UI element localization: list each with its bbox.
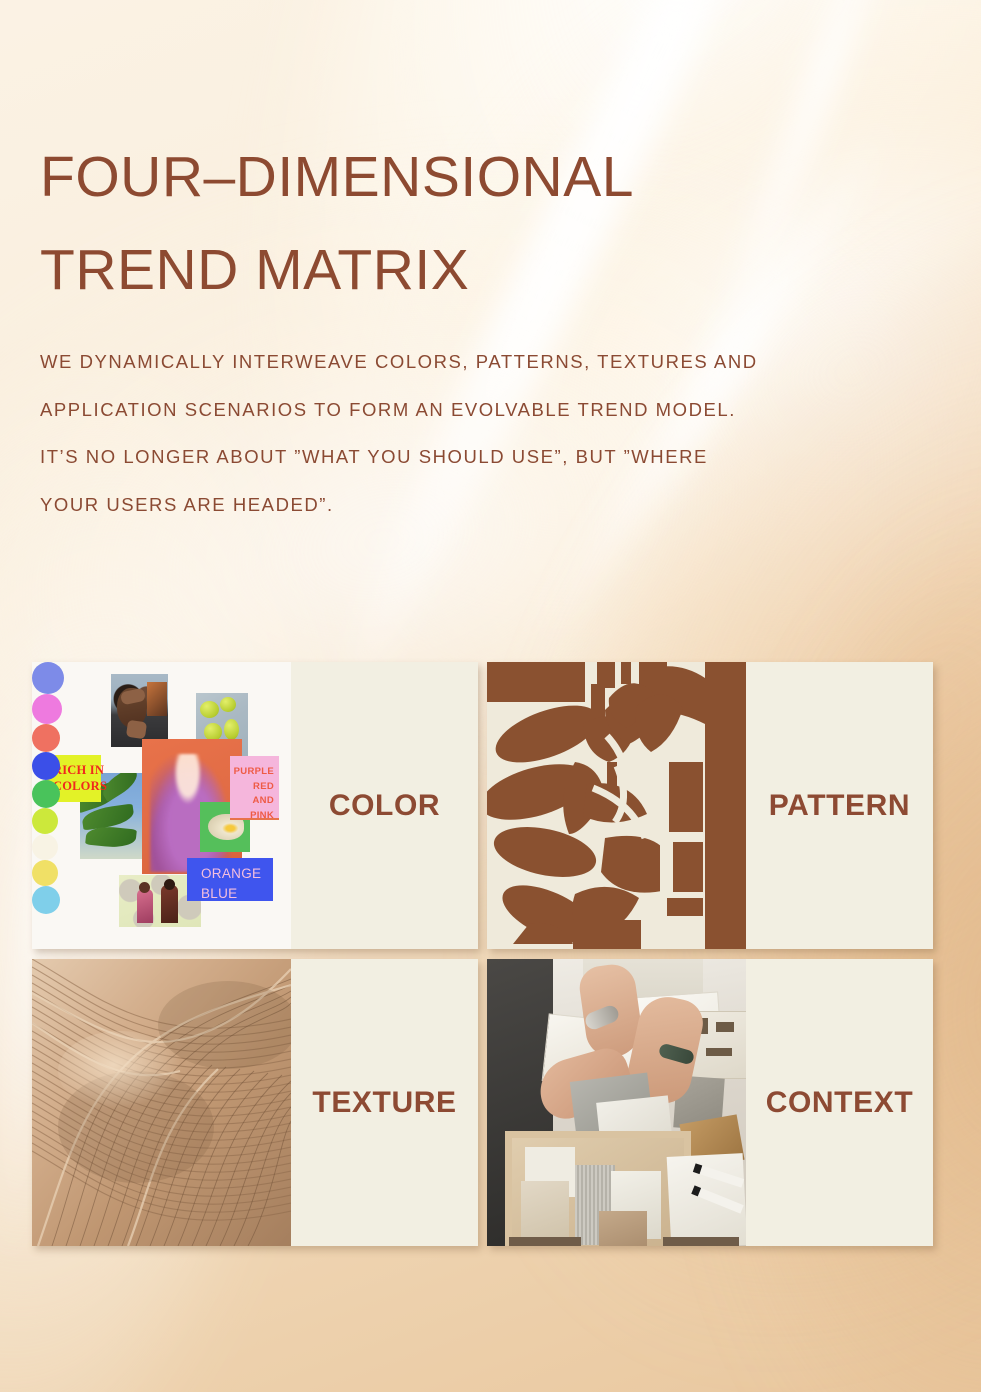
intro-line-1: WE DYNAMICALLY INTERWEAVE COLORS, PATTER… <box>40 338 870 386</box>
card-context-media <box>487 959 746 1246</box>
collage-dot-periwinkle <box>32 662 64 694</box>
collage-dot-yellow <box>32 860 58 886</box>
collage-dot-pink <box>32 694 62 724</box>
card-context-label-text: CONTEXT <box>766 1086 914 1120</box>
collage-dot-cream <box>32 834 58 860</box>
color-collage: ORANGE BLUE RICH IN COLORS PURPLE RED AN… <box>32 662 291 949</box>
pleated-fabric-graphic <box>32 959 291 1246</box>
card-context-label: CONTEXT <box>746 959 933 1246</box>
collage-dot-blue <box>32 752 60 780</box>
poster-root: FOUR–DIMENSIONAL TREND MATRIX WE DYNAMIC… <box>0 0 981 1392</box>
card-color-media: ORANGE BLUE RICH IN COLORS PURPLE RED AN… <box>32 662 291 949</box>
intro-line-4: YOUR USERS ARE HEADED”. <box>40 481 870 529</box>
collage-note-purple-red-and-pink-text: PURPLE RED AND PINK <box>230 765 274 824</box>
collage-dot-lime <box>32 808 58 834</box>
collage-portrait-photo <box>111 674 168 747</box>
collage-dot-coral <box>32 724 60 752</box>
collage-note-orange-blue: ORANGE BLUE <box>187 858 273 901</box>
card-pattern[interactable]: PATTERN <box>487 662 933 949</box>
card-pattern-media <box>487 662 746 949</box>
intro-paragraph: WE DYNAMICALLY INTERWEAVE COLORS, PATTER… <box>40 338 870 528</box>
card-texture-label: TEXTURE <box>291 959 478 1246</box>
collage-note-orange-blue-text: ORANGE BLUE <box>201 864 261 903</box>
pleated-fabric-photo <box>32 959 291 1246</box>
botanical-pattern-graphic <box>487 662 746 949</box>
material-samples-photo <box>487 959 746 1246</box>
collage-note-purple-red-and-pink: PURPLE RED AND PINK <box>230 756 279 820</box>
collage-dot-group <box>32 662 64 914</box>
collage-dot-green <box>32 780 60 808</box>
card-context[interactable]: CONTEXT <box>487 959 933 1246</box>
card-color-label-text: COLOR <box>329 789 440 823</box>
collage-dot-skyblue <box>32 886 60 914</box>
card-color[interactable]: ORANGE BLUE RICH IN COLORS PURPLE RED AN… <box>32 662 478 949</box>
page-title-line-2: TREND MATRIX <box>40 224 860 316</box>
card-pattern-label: PATTERN <box>746 662 933 949</box>
card-texture-media <box>32 959 291 1246</box>
card-texture[interactable]: TEXTURE <box>32 959 478 1246</box>
card-pattern-label-text: PATTERN <box>769 789 910 823</box>
card-texture-label-text: TEXTURE <box>312 1086 456 1120</box>
intro-line-3: IT’S NO LONGER ABOUT ”WHAT YOU SHOULD US… <box>40 433 870 481</box>
trend-matrix-grid: ORANGE BLUE RICH IN COLORS PURPLE RED AN… <box>32 662 933 1246</box>
card-color-label: COLOR <box>291 662 478 949</box>
page-title: FOUR–DIMENSIONAL TREND MATRIX <box>40 131 860 316</box>
intro-line-2: APPLICATION SCENARIOS TO FORM AN EVOLVAB… <box>40 386 870 434</box>
page-title-line-1: FOUR–DIMENSIONAL <box>40 131 860 223</box>
